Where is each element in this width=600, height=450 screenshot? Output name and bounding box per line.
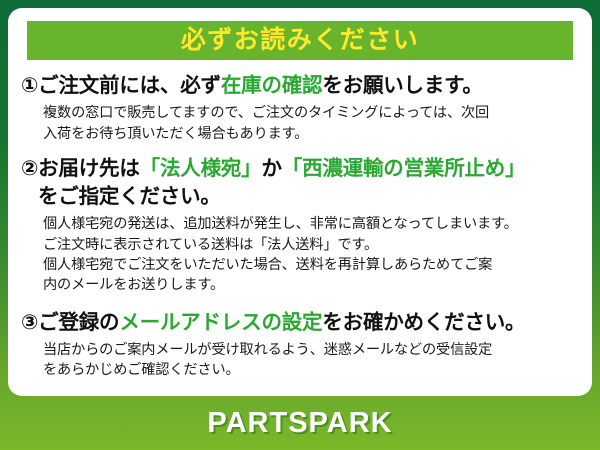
section-1-heading-part-3: をお願いします。 xyxy=(322,74,482,97)
footer-brand: PARTSPARK xyxy=(0,396,600,450)
section-2-heading-line-2: をご指定ください。 xyxy=(21,183,582,211)
notice-frame: 必ずお読みください ①ご注文前には、必ず在庫の確認をお願いします。 複数の窓口で… xyxy=(0,0,600,450)
section-3-body: 当店からのご案内メールが受け取れるよう、迷惑メールなどの受信設定 をあらかじめご… xyxy=(21,340,582,381)
notice-title: 必ずお読みください xyxy=(181,28,420,53)
section-2-heading-highlight-1: 「法人様宛」 xyxy=(140,157,262,180)
notice-section-3: ③ご登録のメールアドレスの設定をお確かめください。 当店からのご案内メールが受け… xyxy=(8,309,592,381)
section-2-heading-part-1: ②お届け先は xyxy=(21,157,140,180)
section-3-heading: ③ご登録のメールアドレスの設定をお確かめください。 xyxy=(21,309,582,337)
section-2-heading-part-3: か xyxy=(261,157,281,180)
section-2-heading-highlight-2: 「西濃運輸の営業所止め」 xyxy=(282,157,526,180)
section-2-body-line-3: 個人様宅宛でご注文をいただいた場合、送料を再計算しあらためてご案 xyxy=(21,255,582,275)
section-3-heading-highlight: メールアドレスの設定 xyxy=(119,311,322,334)
brand-name: PARTSPARK xyxy=(207,407,392,440)
notice-card: 必ずお読みください ①ご注文前には、必ず在庫の確認をお願いします。 複数の窓口で… xyxy=(8,8,592,396)
section-2-body-line-4: 内のメールをお送りします。 xyxy=(21,275,582,295)
section-3-heading-part-3: をお確かめください。 xyxy=(322,311,525,334)
section-3-heading-part-1: ③ご登録の xyxy=(21,311,119,334)
section-1-body-line-1: 複数の窓口で販売してますので、ご注文のタイミングによっては、次回 xyxy=(21,103,582,123)
section-2-body-line-1: 個人様宅宛の発送は、追加送料が発生し、非常に高額となってしまいます。 xyxy=(21,214,582,234)
notice-section-2: ②お届け先は「法人様宛」か「西濃運輸の営業所止め」 をご指定ください。 個人様宅… xyxy=(8,155,592,296)
notice-section-1: ①ご注文前には、必ず在庫の確認をお願いします。 複数の窓口で販売してますので、ご… xyxy=(8,72,592,144)
notice-sections: ①ご注文前には、必ず在庫の確認をお願いします。 複数の窓口で販売してますので、ご… xyxy=(8,68,592,381)
section-2-body: 個人様宅宛の発送は、追加送料が発生し、非常に高額となってしまいます。 ご注文時に… xyxy=(21,214,582,296)
section-1-body: 複数の窓口で販売してますので、ご注文のタイミングによっては、次回 入荷をお待ち頂… xyxy=(21,103,582,144)
section-1-heading-highlight: 在庫の確認 xyxy=(221,74,323,97)
section-2-heading-line-1: ②お届け先は「法人様宛」か「西濃運輸の営業所止め」 xyxy=(21,155,582,183)
section-1-body-line-2: 入荷をお待ち頂いただく場合もあります。 xyxy=(21,124,582,144)
section-1-heading-part-1: ①ご注文前には、必ず xyxy=(21,74,221,97)
section-3-body-line-2: をあらかじめご確認ください。 xyxy=(21,360,582,380)
section-3-body-line-1: 当店からのご案内メールが受け取れるよう、迷惑メールなどの受信設定 xyxy=(21,340,582,360)
title-banner: 必ずお読みください xyxy=(27,21,573,60)
section-1-heading: ①ご注文前には、必ず在庫の確認をお願いします。 xyxy=(21,72,582,100)
section-2-body-line-2: ご注文時に表示されている送料は「法人送料」です。 xyxy=(21,235,582,255)
